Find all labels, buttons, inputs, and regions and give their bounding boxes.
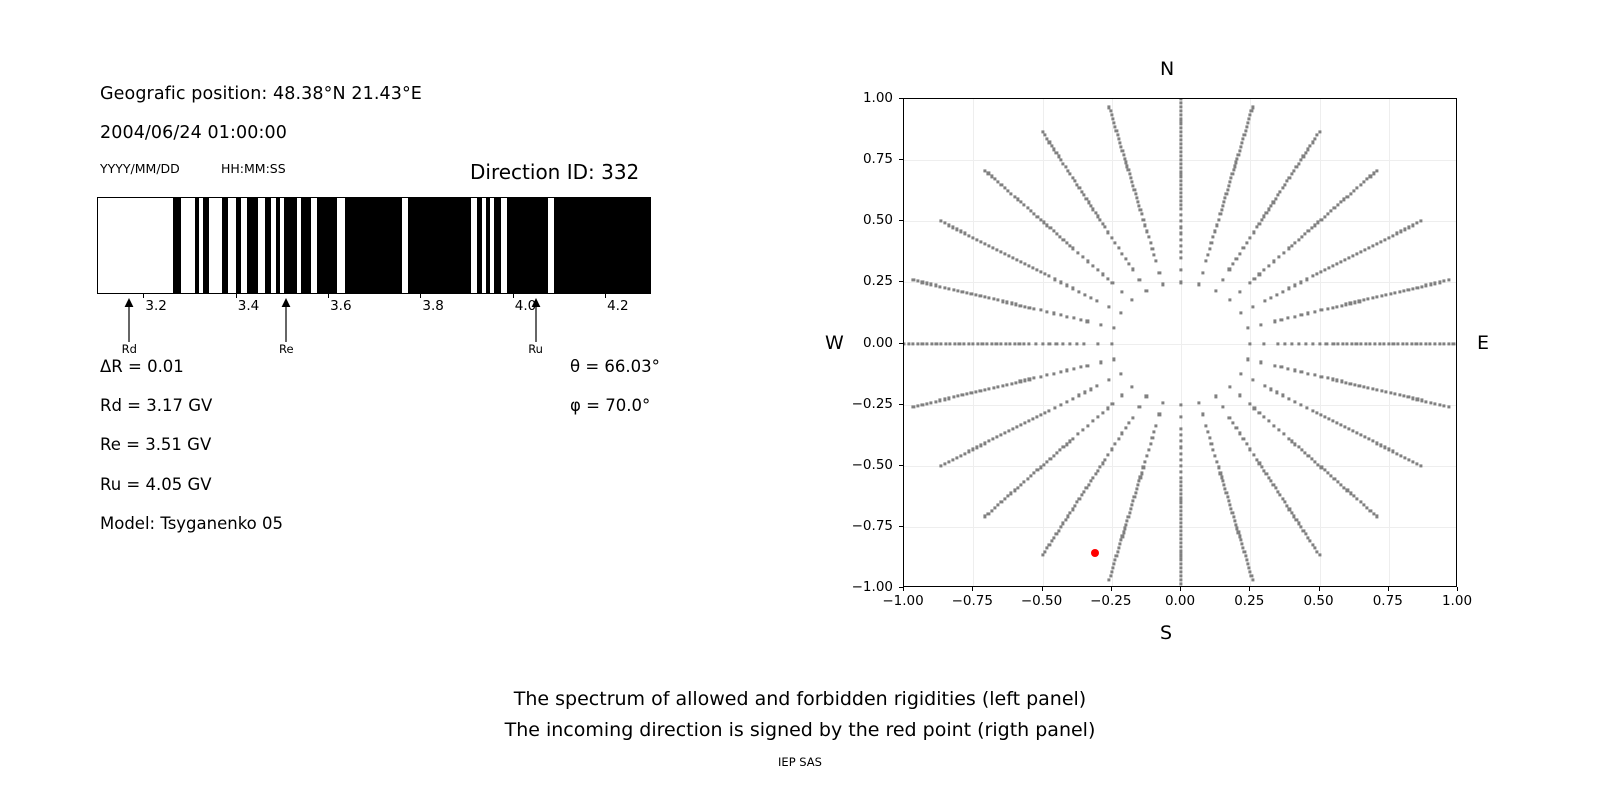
- direction-point: [970, 391, 973, 394]
- spectrum-x-tick: [236, 294, 237, 298]
- direction-point: [1419, 342, 1422, 345]
- time-format-hint: HH:MM:SS: [221, 161, 286, 176]
- direction-point: [1294, 241, 1297, 244]
- direction-point: [1179, 470, 1182, 473]
- direction-point: [1237, 153, 1240, 156]
- direction-point: [1154, 425, 1157, 428]
- direction-point: [1039, 466, 1042, 469]
- direction-point: [1089, 204, 1092, 207]
- direction-point: [1249, 236, 1252, 239]
- direction-point: [1118, 141, 1121, 144]
- direction-point: [1282, 433, 1285, 436]
- direction-point: [1407, 226, 1410, 229]
- direction-point: [1393, 291, 1396, 294]
- direction-point: [1110, 114, 1113, 117]
- direction-point: [1424, 342, 1427, 345]
- direction-point: [1138, 405, 1141, 408]
- direction-point: [1028, 306, 1031, 309]
- direction-point: [1246, 562, 1249, 565]
- direction-point: [1311, 409, 1314, 412]
- direction-point: [1300, 235, 1303, 238]
- compass-north-label: N: [1160, 58, 1174, 80]
- direction-point: [1179, 538, 1182, 541]
- forbidden-band: [345, 198, 402, 293]
- direction-point: [1179, 130, 1182, 133]
- direction-point: [1219, 212, 1222, 215]
- direction-point: [1071, 176, 1074, 179]
- direction-point: [1245, 125, 1248, 128]
- direction-point: [1096, 215, 1099, 218]
- direction-point: [1071, 287, 1074, 290]
- direction-point: [1046, 460, 1049, 463]
- direction-point: [964, 232, 967, 235]
- direction-point: [1139, 476, 1142, 479]
- direction-point: [972, 236, 975, 239]
- direction-point: [961, 290, 964, 293]
- direction-point: [1142, 218, 1145, 221]
- direction-point: [1119, 372, 1122, 375]
- direction-point: [1179, 159, 1182, 162]
- direction-point: [1005, 383, 1008, 386]
- direction-point: [1325, 342, 1328, 345]
- direction-point: [1065, 443, 1068, 446]
- date-format-hint: YYYY/MM/DD: [100, 161, 180, 176]
- direction-point: [1359, 183, 1362, 186]
- direction-point: [1297, 162, 1300, 165]
- direction-point: [1242, 437, 1245, 440]
- direction-point: [1401, 342, 1404, 345]
- direction-point: [1213, 454, 1216, 457]
- direction-point: [1299, 403, 1302, 406]
- direction-point: [1299, 158, 1302, 161]
- direction-point: [1179, 434, 1182, 437]
- spectrum-x-tick-label: 3.4: [238, 298, 259, 314]
- direction-point: [1251, 379, 1254, 382]
- direction-point: [984, 169, 987, 172]
- direction-point: [1128, 511, 1131, 514]
- direction-point: [1351, 430, 1354, 433]
- direction-point: [1179, 458, 1182, 461]
- direction-point: [1179, 226, 1182, 229]
- direction-point: [1383, 342, 1386, 345]
- direction-point: [1052, 230, 1055, 233]
- direction-point: [1179, 99, 1182, 101]
- direction-point: [1293, 400, 1296, 403]
- direction-point: [1319, 413, 1322, 416]
- direction-point: [1230, 177, 1233, 180]
- direction-point: [1279, 190, 1282, 193]
- direction-point: [1353, 301, 1356, 304]
- direction-point: [1232, 515, 1235, 518]
- direction-point: [1140, 472, 1143, 475]
- direction-point: [1251, 305, 1254, 308]
- direction-point: [1204, 425, 1207, 428]
- direction-point: [1335, 305, 1338, 308]
- direction-point: [1240, 141, 1243, 144]
- direction-point: [995, 248, 998, 251]
- direction-point: [1041, 342, 1044, 345]
- direction-point: [1217, 466, 1220, 469]
- direction-point: [1250, 574, 1253, 577]
- direction-point: [1179, 175, 1182, 178]
- direction-point: [1353, 383, 1356, 386]
- direction-point: [1252, 231, 1255, 234]
- direction-point: [1124, 161, 1127, 164]
- direction-point: [1367, 386, 1370, 389]
- direction-point: [1343, 425, 1346, 428]
- forbidden-band: [236, 198, 242, 293]
- direction-point: [1260, 218, 1263, 221]
- direction-point: [1339, 423, 1342, 426]
- direction-point: [948, 460, 951, 463]
- direction-point: [1232, 169, 1235, 172]
- scatter-plot-area: [904, 99, 1456, 586]
- direction-point: [1001, 300, 1004, 303]
- direction-point: [1179, 493, 1182, 496]
- direction-point: [1111, 566, 1114, 569]
- direction-point: [1419, 464, 1422, 467]
- datetime-label: 2004/06/24 01:00:00: [100, 123, 287, 143]
- direction-point: [1072, 317, 1075, 320]
- direction-point: [1179, 220, 1182, 223]
- scatter-y-tick: [899, 159, 903, 160]
- direction-point: [1443, 404, 1446, 407]
- direction-point: [1339, 201, 1342, 204]
- direction-point: [1313, 224, 1316, 227]
- direction-point: [991, 438, 994, 441]
- direction-point: [1239, 311, 1242, 314]
- direction-point: [1096, 415, 1099, 418]
- direction-point: [1300, 370, 1303, 373]
- direction-point: [1107, 231, 1110, 234]
- direction-point: [1224, 196, 1227, 199]
- direction-point: [1245, 558, 1248, 561]
- direction-point: [1138, 480, 1141, 483]
- direction-point: [1179, 126, 1182, 129]
- direction-point: [1023, 204, 1026, 207]
- direction-point: [1055, 232, 1058, 235]
- direction-point: [1411, 397, 1414, 400]
- direction-point: [930, 401, 933, 404]
- direction-point: [1179, 578, 1182, 581]
- direction-point: [1010, 192, 1013, 195]
- direction-point: [1123, 527, 1126, 530]
- direction-point: [1313, 310, 1316, 313]
- spectrum-x-tick-label: 3.6: [330, 298, 351, 314]
- direction-point: [1201, 413, 1204, 416]
- direction-point: [1033, 472, 1036, 475]
- incoming-direction-panel: N S W E −1.00−0.75−0.50−0.250.000.250.50…: [790, 0, 1600, 660]
- direction-point: [1236, 527, 1239, 530]
- direction-point: [1179, 546, 1182, 549]
- direction-point: [1332, 342, 1335, 345]
- direction-point: [1113, 326, 1116, 329]
- direction-point: [1429, 342, 1432, 345]
- direction-point: [1133, 188, 1136, 191]
- forbidden-band: [265, 198, 271, 293]
- direction-point: [1438, 342, 1441, 345]
- direction-point: [1323, 415, 1326, 418]
- direction-point: [1179, 480, 1182, 483]
- direction-point: [1111, 281, 1114, 284]
- scatter-y-tick-label: −0.75: [841, 518, 893, 534]
- direction-point: [1179, 582, 1182, 585]
- direction-point: [1251, 578, 1254, 581]
- direction-point: [1179, 110, 1182, 113]
- direction-point: [1073, 180, 1076, 183]
- direction-point: [1277, 428, 1280, 431]
- direction-point: [1378, 342, 1381, 345]
- direction-point: [1128, 173, 1131, 176]
- direction-point: [952, 226, 955, 229]
- direction-point: [1179, 574, 1182, 577]
- direction-point: [1221, 480, 1224, 483]
- direction-point: [1059, 449, 1062, 452]
- scatter-x-tick: [1111, 587, 1112, 591]
- direction-point: [930, 342, 933, 345]
- direction-point: [1081, 428, 1084, 431]
- direction-point: [1249, 448, 1252, 451]
- direction-point: [990, 509, 993, 512]
- direction-point: [1001, 384, 1004, 387]
- direction-point: [1320, 309, 1323, 312]
- direction-point: [1375, 515, 1378, 518]
- forbidden-band: [554, 198, 651, 293]
- direction-point: [943, 398, 946, 401]
- direction-point: [1132, 184, 1135, 187]
- direction-point: [1136, 200, 1139, 203]
- compass-south-label: S: [1160, 622, 1172, 644]
- direction-point: [1399, 230, 1402, 233]
- direction-point: [960, 230, 963, 233]
- direction-point: [1228, 416, 1231, 419]
- direction-point: [1031, 267, 1034, 270]
- direction-point: [1310, 227, 1313, 230]
- direction-point: [964, 452, 967, 455]
- direction-point: [1120, 145, 1123, 148]
- direction-point: [1179, 476, 1182, 479]
- direction-point: [1134, 491, 1137, 494]
- direction-point: [1327, 417, 1330, 420]
- direction-point: [987, 512, 990, 515]
- direction-point: [1387, 236, 1390, 239]
- direction-point: [1269, 388, 1272, 391]
- direction-point: [1286, 180, 1289, 183]
- direction-point: [1330, 209, 1333, 212]
- direction-point: [1233, 165, 1236, 168]
- direction-point: [939, 285, 942, 288]
- direction-point: [1355, 252, 1358, 255]
- direction-point: [1011, 256, 1014, 259]
- direction-point: [1041, 130, 1044, 133]
- direction-point: [1369, 342, 1372, 345]
- direction-point: [1249, 114, 1252, 117]
- rigidity-spectrum-panel: Geografic position: 48.38°N 21.43°E 2004…: [0, 0, 790, 660]
- direction-point: [904, 342, 906, 345]
- direction-point: [1049, 227, 1052, 230]
- direction-point: [1236, 157, 1239, 160]
- direction-point: [1380, 294, 1383, 297]
- direction-point: [990, 175, 993, 178]
- direction-point: [1311, 141, 1314, 144]
- direction-point: [1013, 489, 1016, 492]
- direction-point: [1367, 438, 1370, 441]
- direction-point: [1293, 369, 1296, 372]
- direction-point: [1065, 284, 1068, 287]
- direction-point: [1376, 296, 1379, 299]
- direction-point: [1076, 342, 1079, 345]
- direction-point: [1379, 444, 1382, 447]
- direction-point: [1411, 287, 1414, 290]
- direction-point: [1398, 290, 1401, 293]
- direction-point: [1108, 106, 1111, 109]
- direction-point: [1250, 110, 1253, 113]
- direction-point: [1023, 379, 1026, 382]
- direction-point: [1244, 554, 1247, 557]
- direction-point: [1059, 158, 1062, 161]
- direction-point: [1052, 454, 1055, 457]
- direction-point: [1064, 165, 1067, 168]
- direction-point: [1179, 106, 1182, 109]
- direction-point: [1079, 318, 1082, 321]
- direction-point: [1179, 517, 1182, 520]
- direction-point: [1179, 238, 1182, 241]
- direction-point: [1121, 535, 1124, 538]
- direction-point: [1407, 458, 1410, 461]
- scatter-y-tick: [899, 343, 903, 344]
- direction-point: [1010, 302, 1013, 305]
- direction-point: [1208, 247, 1211, 250]
- direction-point: [1179, 207, 1182, 210]
- direction-point: [1179, 118, 1182, 121]
- direction-point: [1263, 415, 1266, 418]
- direction-point: [1062, 162, 1065, 165]
- direction-point: [976, 238, 979, 241]
- direction-point: [916, 404, 919, 407]
- direction-point: [1095, 299, 1098, 302]
- direction-point: [1425, 400, 1428, 403]
- direction-point: [1121, 252, 1124, 255]
- direction-point: [1204, 259, 1207, 262]
- direction-point: [1273, 320, 1276, 323]
- direction-point: [1019, 483, 1022, 486]
- direction-point: [976, 342, 979, 345]
- direction-point: [1343, 198, 1346, 201]
- direction-point: [1231, 263, 1234, 266]
- direction-point: [1130, 181, 1133, 184]
- direction-point: [983, 242, 986, 245]
- direction-point: [1062, 238, 1065, 241]
- direction-point: [921, 281, 924, 284]
- param-model: Model: Tsyganenko 05: [100, 514, 283, 533]
- direction-point: [1245, 442, 1248, 445]
- direction-point: [1281, 290, 1284, 293]
- direction-point: [1179, 167, 1182, 170]
- scatter-x-tick-label: 0.25: [1234, 593, 1264, 609]
- scatter-x-tick-label: 1.00: [1442, 593, 1472, 609]
- direction-point: [1179, 550, 1182, 553]
- direction-point: [1238, 535, 1241, 538]
- direction-point: [1019, 380, 1022, 383]
- scatter-x-tick: [1457, 587, 1458, 591]
- direction-point: [967, 342, 970, 345]
- direction-point: [1099, 323, 1102, 326]
- scatter-x-tick-label: −0.50: [1021, 593, 1062, 609]
- direction-point: [1019, 260, 1022, 263]
- direction-point: [1350, 342, 1353, 345]
- direction-point: [1316, 134, 1319, 137]
- direction-point: [952, 396, 955, 399]
- direction-point: [1072, 437, 1075, 440]
- direction-point: [1276, 342, 1279, 345]
- direction-point: [965, 291, 968, 294]
- direction-point: [1083, 391, 1086, 394]
- direction-point: [1179, 529, 1182, 532]
- direction-point: [1242, 137, 1245, 140]
- direction-point: [1362, 181, 1365, 184]
- direction-point: [1411, 224, 1414, 227]
- direction-point: [1346, 342, 1349, 345]
- direction-point: [1249, 342, 1252, 345]
- direction-point: [1347, 427, 1350, 430]
- direction-point: [1129, 507, 1132, 510]
- direction-point: [943, 286, 946, 289]
- direction-point: [1127, 169, 1130, 172]
- direction-point: [1079, 366, 1082, 369]
- direction-point: [930, 283, 933, 286]
- direction-point: [1065, 241, 1068, 244]
- direction-point: [1239, 145, 1242, 148]
- direction-point: [983, 388, 986, 391]
- direction-point: [1107, 305, 1110, 308]
- direction-point: [1323, 269, 1326, 272]
- forbidden-band: [408, 198, 472, 293]
- direction-point: [1179, 179, 1182, 182]
- rigidity-marker-arrow-ru: [530, 298, 542, 342]
- selected-direction-point: [1091, 549, 1099, 557]
- direction-point: [1318, 554, 1321, 557]
- direction-point: [1406, 342, 1409, 345]
- scatter-x-tick: [1249, 587, 1250, 591]
- direction-point: [1059, 235, 1062, 238]
- param-ru: Ru = 4.05 GV: [100, 475, 212, 494]
- direction-point: [1340, 304, 1343, 307]
- direction-point: [1179, 505, 1182, 508]
- direction-point: [1010, 382, 1013, 385]
- direction-point: [1272, 424, 1275, 427]
- direction-point: [979, 389, 982, 392]
- direction-point: [1429, 283, 1432, 286]
- direction-point: [1039, 309, 1042, 312]
- direction-point: [1364, 342, 1367, 345]
- direction-point: [1179, 403, 1182, 406]
- direction-point: [1023, 305, 1026, 308]
- direction-point: [983, 296, 986, 299]
- direction-point: [1089, 296, 1092, 299]
- direction-point: [1317, 221, 1320, 224]
- direction-point: [1127, 263, 1130, 266]
- direction-point: [1434, 282, 1437, 285]
- direction-point: [1126, 519, 1129, 522]
- direction-point: [1283, 183, 1286, 186]
- direction-point: [1349, 302, 1352, 305]
- direction-point: [1121, 149, 1124, 152]
- direction-point: [1117, 547, 1120, 550]
- direction-point: [1068, 440, 1071, 443]
- direction-point: [1055, 342, 1058, 345]
- direction-point: [1302, 155, 1305, 158]
- direction-point: [1055, 151, 1058, 154]
